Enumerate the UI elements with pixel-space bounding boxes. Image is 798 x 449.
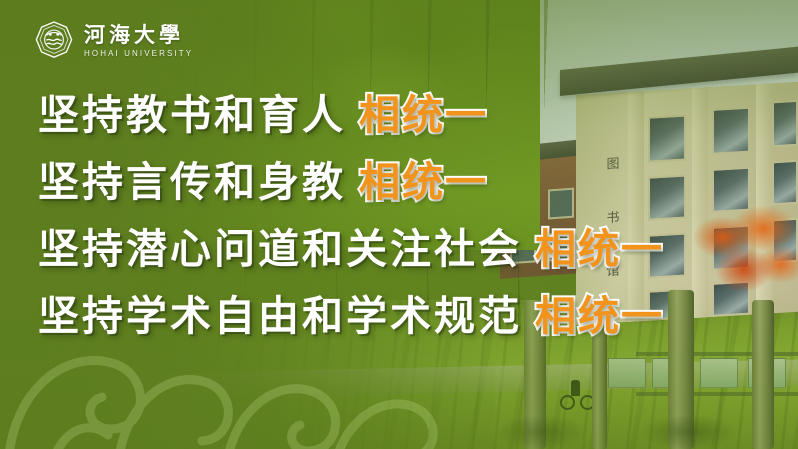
slogan-highlight-text: 相统一 [535,229,664,270]
slogan-main-text: 坚持学术自由和学术规范 [38,296,522,337]
university-logo: 河海大學 HOHAI UNIVERSITY [33,20,193,62]
slogan-line: 坚持教书和育人 相统一 [38,95,778,162]
slogan-line: 坚持潜心问道和关注社会 相统一 [38,229,778,296]
slogan-main-text: 坚持潜心问道和关注社会 [38,229,522,270]
slogan-highlight-text: 相统一 [535,296,664,337]
logo-name-en: HOHAI UNIVERSITY [84,49,193,58]
logo-name-cn: 河海大學 [84,24,193,46]
slogan-line: 坚持学术自由和学术规范 相统一 [38,296,778,363]
slogan-line: 坚持言传和身教 相统一 [38,162,778,229]
logo-wordmark: 河海大學 HOHAI UNIVERSITY [84,24,193,58]
slogan-main-text: 坚持教书和育人 [38,95,346,136]
slogan-highlight-text: 相统一 [359,95,488,136]
slogan-main-text: 坚持言传和身教 [38,162,346,203]
slogan-list: 坚持教书和育人 相统一 坚持言传和身教 相统一 坚持潜心问道和关注社会 相统一 … [38,95,778,363]
hohai-university-emblem-icon [33,20,75,62]
slogan-highlight-text: 相统一 [359,162,488,203]
poster-banner: 图 书 馆 [0,0,798,449]
